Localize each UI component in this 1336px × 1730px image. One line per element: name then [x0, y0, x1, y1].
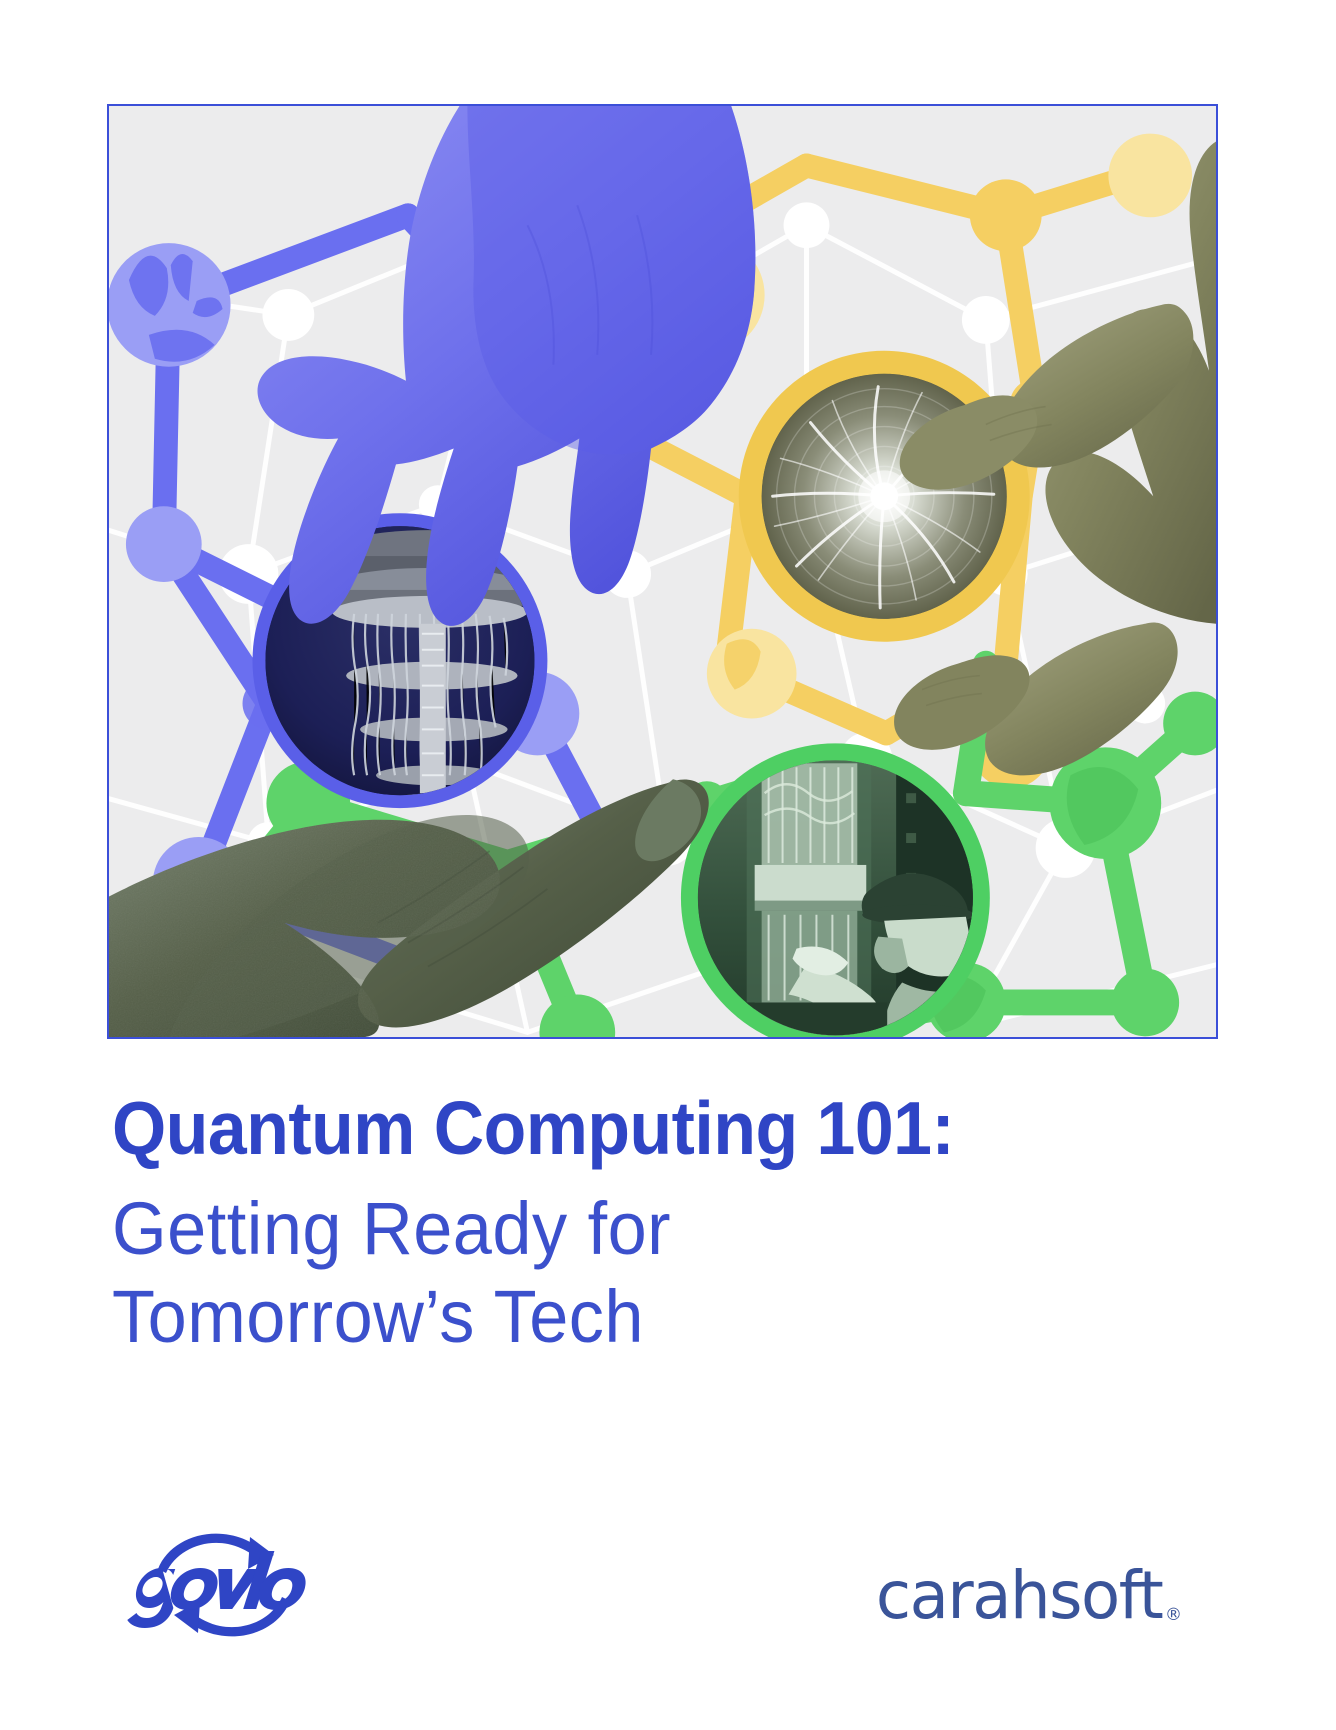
cover-image — [107, 104, 1218, 1039]
cover-page: Quantum Computing 101: Getting Ready for… — [0, 0, 1336, 1730]
carahsoft-wordmark: carahsoft — [876, 1563, 1162, 1629]
plasma-orb-circle — [739, 351, 1030, 642]
govloop-logo-mark — [124, 1525, 324, 1645]
carahsoft-logo[interactable]: carahsoft ® — [867, 1543, 1182, 1629]
logo-row: carahsoft ® — [112, 1525, 1222, 1645]
page-title: Quantum Computing 101: — [112, 1085, 1154, 1171]
govloop-logo[interactable] — [124, 1525, 324, 1645]
page-subtitle-line-2: Tomorrow’s Tech — [112, 1273, 1176, 1361]
title-block: Quantum Computing 101: Getting Ready for… — [112, 1085, 1232, 1361]
collage-artwork — [109, 106, 1216, 1037]
registered-trademark-icon: ® — [1165, 1605, 1182, 1625]
page-subtitle-line-1: Getting Ready for — [112, 1185, 1176, 1273]
